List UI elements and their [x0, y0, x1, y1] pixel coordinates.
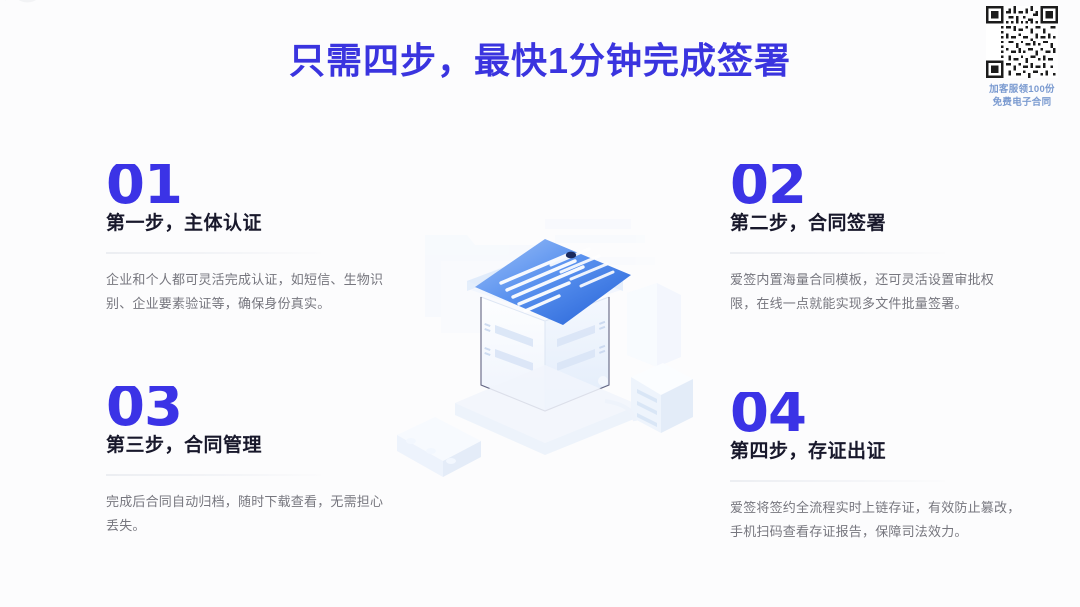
step-divider-04	[730, 480, 945, 482]
qr-code-icon[interactable]	[986, 6, 1058, 78]
isometric-document-box-illustration	[395, 205, 695, 495]
step-card-04: 04 第四步，存证出证 爱签将签约全流程实时上链存证，有效防止篡改，手机扫码查看…	[730, 392, 1030, 544]
step-number-02: 02	[730, 164, 1030, 206]
step-card-03: 03 第三步，合同管理 完成后合同自动归档，随时下载查看，无需担心丢失。	[106, 386, 406, 538]
step-description-03: 完成后合同自动归档，随时下载查看，无需担心丢失。	[106, 490, 388, 538]
step-title-03: 第三步，合同管理	[106, 430, 406, 457]
step-number-04: 04	[730, 392, 1030, 434]
step-title-04: 第四步，存证出证	[730, 436, 1030, 463]
step-divider-03	[106, 474, 321, 476]
step-number-01: 01	[106, 164, 406, 206]
step-divider-02	[730, 252, 945, 254]
step-description-04: 爱签将签约全流程实时上链存证，有效防止篡改，手机扫码查看存证报告，保障司法效力。	[730, 496, 1026, 544]
step-title-02: 第二步，合同签署	[730, 208, 1030, 235]
step-title-01: 第一步，主体认证	[106, 208, 406, 235]
watermark-asign: asign	[0, 0, 82, 6]
step-number-03: 03	[106, 386, 406, 428]
qr-caption-line2: 免费电子合同	[974, 96, 1070, 109]
step-card-01: 01 第一步，主体认证 企业和个人都可灵活完成认证，如短信、生物识别、企业要素验…	[106, 164, 406, 316]
step-description-02: 爱签内置海量合同模板，还可灵活设置审批权限，在线一点就能实现多文件批量签署。	[730, 268, 1018, 316]
qr-caption-line1: 加客服领100份	[974, 83, 1070, 96]
qr-caption: 加客服领100份 免费电子合同	[974, 83, 1070, 109]
step-card-02: 02 第二步，合同签署 爱签内置海量合同模板，还可灵活设置审批权限，在线一点就能…	[730, 164, 1030, 316]
qr-block[interactable]: 加客服领100份 免费电子合同	[974, 6, 1070, 109]
slide-root: asign 只需四步，最快1分钟完成签署	[0, 0, 1080, 607]
step-description-01: 企业和个人都可灵活完成认证，如短信、生物识别、企业要素验证等，确保身份真实。	[106, 268, 388, 316]
step-divider-01	[106, 252, 321, 254]
page-title: 只需四步，最快1分钟完成签署	[0, 32, 1080, 84]
